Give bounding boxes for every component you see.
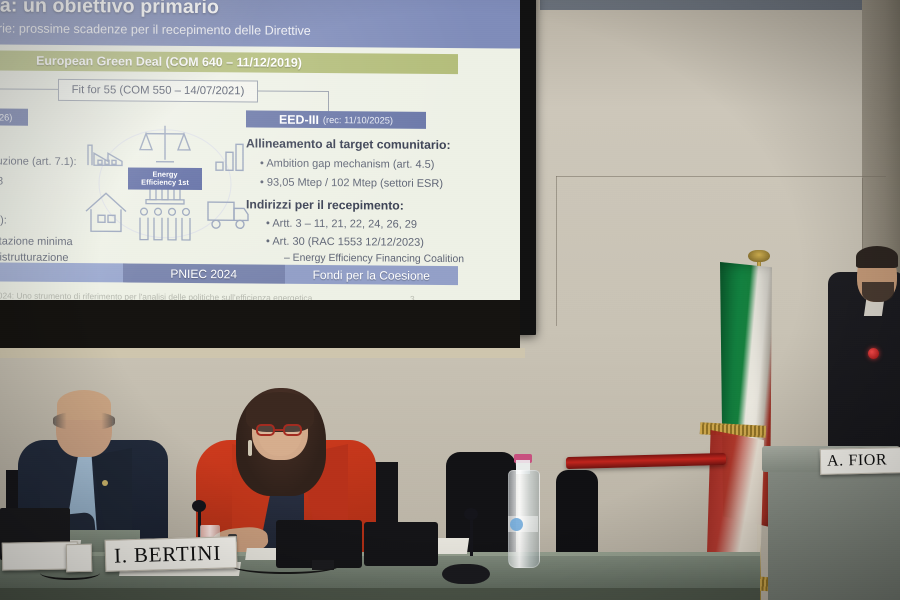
panelist-right-glasses-icon: [256, 424, 304, 436]
right-bullet-1-1: • 93,05 Mtep / 102 Mtep (settori ESR): [260, 177, 443, 190]
wall-top-strip: [540, 0, 900, 10]
connector-line: [0, 88, 58, 90]
connector-line: [256, 90, 328, 92]
panelist-left-hair: [53, 412, 115, 430]
podium-speaker: [828, 272, 900, 472]
bar-fondi: Fondi per la Coesione: [285, 265, 458, 285]
right-bullet-1-0: • Ambition gap mechanism (art. 4.5): [260, 158, 434, 171]
microphone-base: [442, 564, 490, 584]
speaker-lapel-pin-icon: [868, 348, 879, 359]
bottle-logo-icon: [510, 518, 523, 531]
podium-nameplate: A. FIOR: [820, 447, 900, 475]
fit-for-55-label: Fit for 55 (COM 550 – 14/07/2021): [59, 80, 257, 102]
right-bullet-2-1: • Art. 30 (RAC 1553 12/12/2023): [266, 236, 424, 249]
wall-panel-line: [556, 176, 557, 326]
eed-chip-title: EED-III: [279, 112, 319, 126]
right-heading-2: Indirizzi per il recepimento:: [246, 197, 404, 212]
flag-finial-icon: [748, 250, 770, 262]
panelist-right-earring-icon: [248, 440, 252, 456]
bar-pniec: PNIEC 2024: [123, 263, 285, 283]
desk-cable: [230, 556, 340, 574]
epbd-chip-note: (rec: 28/05/2026): [0, 112, 12, 123]
screen-bottom-trim: [0, 348, 525, 358]
table-microphone: [470, 516, 473, 556]
desk-monitor: [364, 522, 438, 566]
green-deal-label: European Green Deal (COM 640 – 11/12/201…: [0, 50, 458, 75]
slide-bottom-bar: PNRR PNIEC 2024 Fondi per la Coesione: [0, 262, 458, 286]
right-heading-1: Allineamento al target comunitario:: [246, 136, 451, 152]
microphone-head-icon: [464, 508, 478, 520]
table-front-face: [0, 588, 760, 600]
podium-nameplate-text: A. FIOR: [821, 451, 888, 470]
right-bullet-2-0: • Artt. 3 – 11, 21, 22, 24, 26, 29: [266, 218, 417, 231]
left-line-3: esistenti (art. 9):: [0, 214, 7, 227]
conference-room-scene: nza energetica: un obiettivo primario el…: [0, 0, 900, 600]
presentation-slide: nza energetica: un obiettivo primario el…: [0, 0, 520, 322]
microphone-head-icon: [192, 500, 206, 512]
fit-for-55-box: Fit for 55 (COM 550 – 14/07/2021): [58, 79, 258, 103]
seated-nameplate: I. BERTINI: [105, 536, 238, 572]
eff-line-2: Efficiency 1st: [141, 179, 189, 187]
speaker-beard: [862, 282, 894, 302]
eed-chip: EED-III (rec: 11/10/2025): [246, 110, 426, 128]
energy-efficiency-first-chip: Energy Efficiency 1st: [128, 167, 202, 190]
slide-title: nza energetica: un obiettivo primario: [0, 0, 474, 21]
left-line-1: Pubblici: 2028: [0, 175, 3, 188]
eed-chip-note: (rec: 11/10/2025): [323, 115, 393, 126]
epbd-chip: PBD-IV (rec: 28/05/2026): [0, 108, 28, 126]
energy-efficiency-diagram: Energy Efficiency 1st: [80, 119, 250, 252]
bar-pnrr: PNRR: [0, 262, 123, 283]
left-line-4: Target di prestazione minima: [0, 235, 73, 248]
wall-panel-line: [556, 176, 886, 177]
green-deal-band: European Green Deal (COM 640 – 11/12/201…: [0, 50, 458, 75]
panelist-left-lapel-pin-icon: [102, 480, 108, 486]
projection-screen: nza energetica: un obiettivo primario el…: [0, 0, 520, 322]
seated-nameplate-text: I. BERTINI: [106, 540, 222, 568]
nameplate-blank: [66, 544, 92, 572]
screen-lower-shadow: [0, 300, 520, 352]
speaker-hair: [856, 246, 898, 268]
right-subbullet: – Energy Efficiency Financing Coalition: [284, 253, 464, 265]
left-line-0: di nuova costruzione (art. 7.1):: [0, 155, 77, 168]
